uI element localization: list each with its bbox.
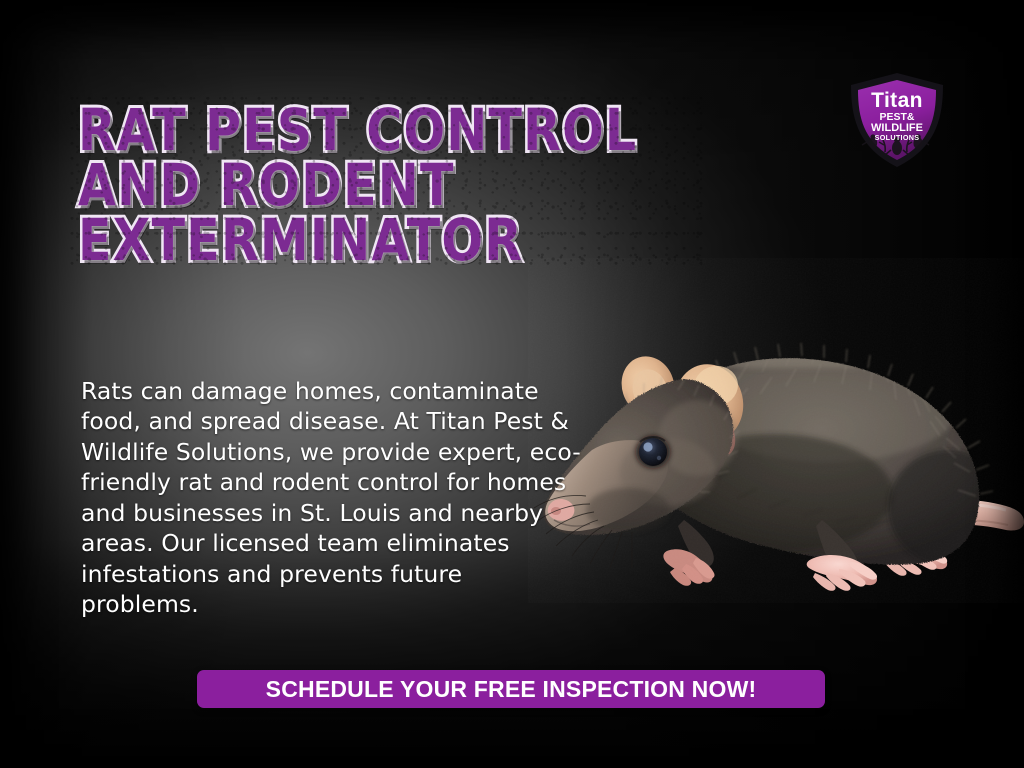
logo-line4: SOLUTIONS [875,133,920,142]
headline-line-2: AND RODENT [78,158,698,213]
headline-line-1: RAT PEST CONTROL [78,103,698,158]
rat-photo-grain [528,258,1024,603]
headline-line-3: EXTERMINATOR [78,213,698,268]
poster-canvas: RAT PEST CONTROL AND RODENT EXTERMINATOR… [0,0,1024,768]
titan-logo[interactable]: Titan PEST& WILDLIFE SOLUTIONS [843,70,951,170]
body-paragraph: Rats can damage homes, contaminate food,… [81,376,581,620]
schedule-inspection-button[interactable]: SCHEDULE YOUR FREE INSPECTION NOW! [197,670,825,708]
rat-photo [528,258,1024,603]
headline: RAT PEST CONTROL AND RODENT EXTERMINATOR [78,103,698,268]
cta-label: SCHEDULE YOUR FREE INSPECTION NOW! [266,676,757,703]
logo-brand-text: Titan [871,89,923,112]
